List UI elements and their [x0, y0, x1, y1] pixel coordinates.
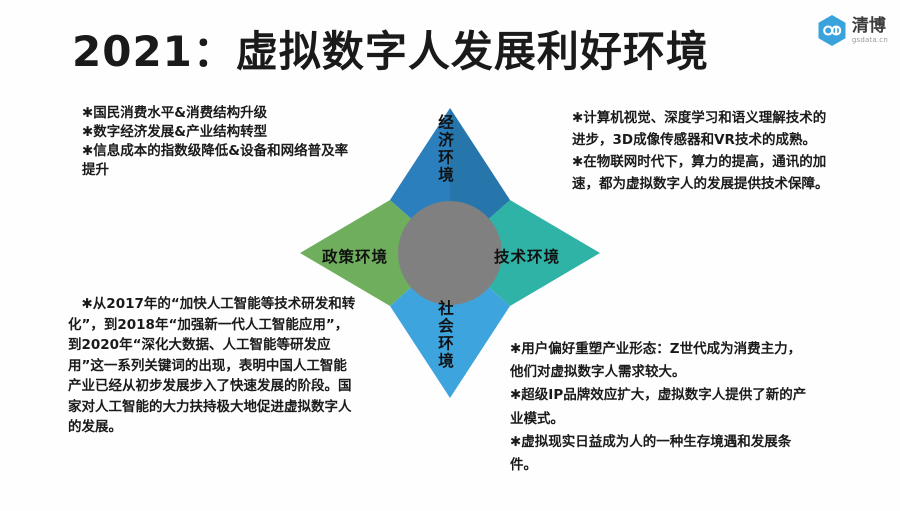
- brand-logo: 清博 gsdata.cn: [817, 14, 888, 47]
- page-title: 2021：虚拟数字人发展利好环境: [72, 18, 709, 79]
- star-diagram-svg: [282, 92, 618, 414]
- center-circle: [398, 201, 502, 305]
- four-point-star-diagram: 经济环境 技术环境 社会环境 政策环境: [282, 92, 618, 414]
- slide-canvas: 清博 gsdata.cn 2021：虚拟数字人发展利好环境 ✱国民消费水平&消费…: [0, 0, 900, 511]
- brand-logo-text: 清博 gsdata.cn: [852, 18, 888, 44]
- brand-name: 清博: [852, 18, 888, 35]
- hexagon-infinity-icon: [817, 14, 847, 47]
- brand-url: gsdata.cn: [852, 37, 888, 44]
